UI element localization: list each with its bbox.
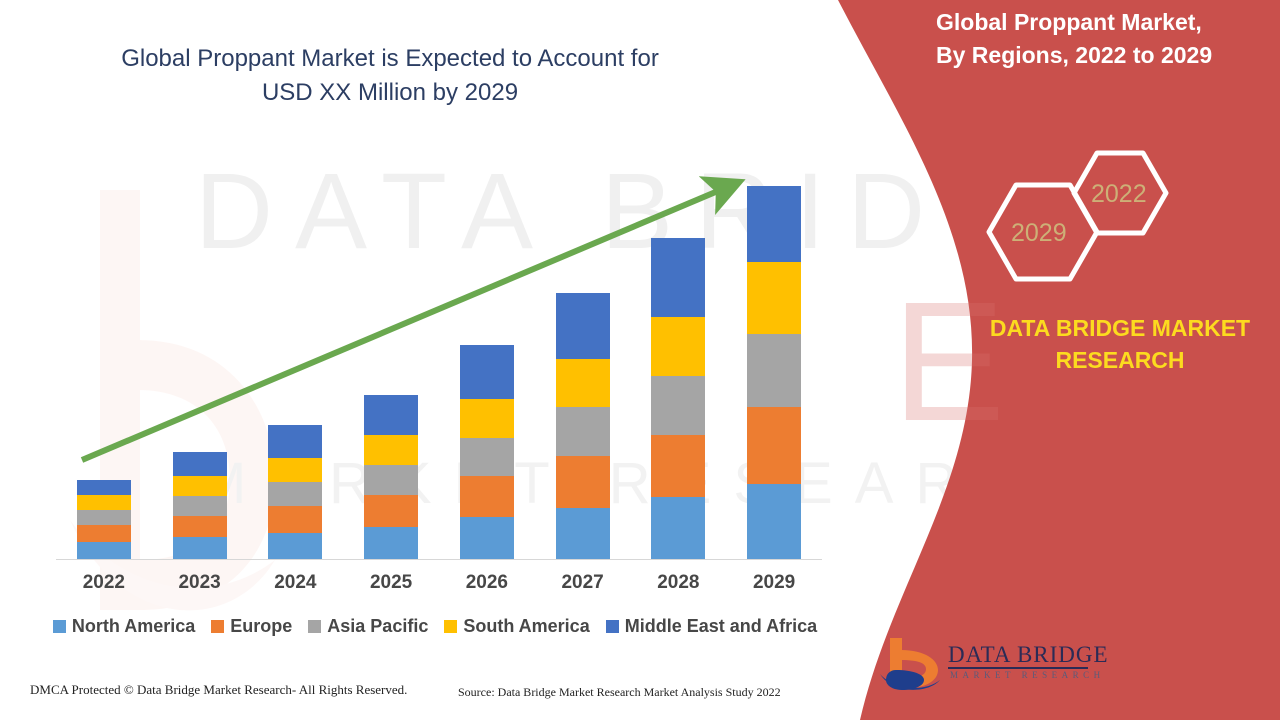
x-axis-label-2029: 2029 <box>747 572 801 594</box>
legend-item[interactable]: Middle East and Africa <box>606 616 817 637</box>
legend-item[interactable]: North America <box>53 616 195 637</box>
logo-mark-icon <box>878 636 948 696</box>
logo-wordmark: DATA BRIDGE <box>948 642 1109 668</box>
legend-item[interactable]: South America <box>444 616 589 637</box>
x-axis-label-2023: 2023 <box>173 572 227 594</box>
bar-segment <box>364 465 418 495</box>
chart-baseline-axis <box>56 559 822 560</box>
legend-swatch-icon <box>211 620 224 633</box>
x-axis-label-2028: 2028 <box>651 572 705 594</box>
bar-segment <box>173 516 227 537</box>
bar-segment <box>651 317 705 376</box>
legend-item[interactable]: Asia Pacific <box>308 616 428 637</box>
bar-segment <box>460 517 514 559</box>
bar-segment <box>77 510 131 525</box>
bar-column-2029 <box>747 150 801 559</box>
dmca-notice: DMCA Protected © Data Bridge Market Rese… <box>30 682 407 698</box>
logo-tagline: MARKET RESEARCH <box>950 670 1105 680</box>
chart-title-line1: Global Proppant Market is Expected to Ac… <box>60 42 720 76</box>
legend-swatch-icon <box>606 620 619 633</box>
chart-title: Global Proppant Market is Expected to Ac… <box>60 42 720 110</box>
bar-segment <box>460 345 514 399</box>
bar-segment <box>556 359 610 407</box>
bar-segment <box>747 186 801 262</box>
legend-label: Middle East and Africa <box>625 616 817 637</box>
bar-column-2024 <box>268 150 322 559</box>
panel-title-line1: Global Proppant Market, <box>936 6 1266 39</box>
infographic-slide: DATA BRIDGE MARKET RESEARCH Global Propp… <box>0 0 1280 720</box>
stacked-bar-chart <box>56 150 822 559</box>
bar-segment <box>651 238 705 317</box>
bar-segment <box>460 399 514 438</box>
x-axis-labels: 20222023202420252026202720282029 <box>56 572 822 594</box>
bar-segment <box>460 438 514 476</box>
bar-segment <box>77 480 131 495</box>
bar-segment <box>364 435 418 465</box>
company-logo: DATA BRIDGE MARKET RESEARCH <box>878 636 1098 696</box>
bar-segment <box>364 495 418 527</box>
legend-swatch-icon <box>444 620 457 633</box>
bar-segment <box>77 542 131 559</box>
chart-title-line2: USD XX Million by 2029 <box>60 76 720 110</box>
source-note: Source: Data Bridge Market Research Mark… <box>458 685 781 700</box>
legend-label: Asia Pacific <box>327 616 428 637</box>
bar-column-2027 <box>556 150 610 559</box>
legend-label: North America <box>72 616 195 637</box>
bar-segment <box>651 376 705 435</box>
x-axis-label-2026: 2026 <box>460 572 514 594</box>
hex-year-2022: 2022 <box>1091 180 1147 209</box>
x-axis-label-2024: 2024 <box>268 572 322 594</box>
bar-segment <box>747 334 801 407</box>
bar-segment <box>77 525 131 542</box>
bar-segment <box>364 527 418 559</box>
bar-segment <box>747 407 801 484</box>
brand-name: DATA BRIDGE MARKET RESEARCH <box>965 312 1275 376</box>
chart-legend: North AmericaEuropeAsia PacificSouth Ame… <box>40 616 830 637</box>
bar-segment <box>747 262 801 334</box>
x-axis-label-2022: 2022 <box>77 572 131 594</box>
bar-segment <box>651 497 705 559</box>
bar-column-2025 <box>364 150 418 559</box>
bar-segment <box>747 484 801 559</box>
bar-segment <box>268 425 322 458</box>
bar-segment <box>173 537 227 559</box>
legend-label: Europe <box>230 616 292 637</box>
bar-segment <box>173 476 227 496</box>
bar-segment <box>173 452 227 476</box>
bar-column-2028 <box>651 150 705 559</box>
legend-swatch-icon <box>53 620 66 633</box>
bar-segment <box>556 508 610 559</box>
bar-segment <box>268 533 322 559</box>
bar-segment <box>556 456 610 508</box>
bar-segment <box>364 395 418 435</box>
legend-label: South America <box>463 616 589 637</box>
hex-year-2029: 2029 <box>1011 219 1067 248</box>
bar-segment <box>173 496 227 516</box>
panel-title-line2: By Regions, 2022 to 2029 <box>936 39 1266 72</box>
bar-column-2022 <box>77 150 131 559</box>
brand-line1: DATA BRIDGE MARKET <box>965 312 1275 344</box>
bar-segment <box>556 407 610 456</box>
x-axis-label-2025: 2025 <box>364 572 418 594</box>
x-axis-label-2027: 2027 <box>556 572 610 594</box>
panel-title: Global Proppant Market, By Regions, 2022… <box>936 6 1266 72</box>
legend-swatch-icon <box>308 620 321 633</box>
bar-segment <box>460 476 514 517</box>
bar-segment <box>268 482 322 506</box>
bar-segment <box>556 293 610 359</box>
bar-segment <box>268 458 322 482</box>
bar-segment <box>268 506 322 533</box>
bar-column-2026 <box>460 150 514 559</box>
bar-column-2023 <box>173 150 227 559</box>
brand-line2: RESEARCH <box>965 344 1275 376</box>
bar-segment <box>77 495 131 510</box>
bar-segment <box>651 435 705 497</box>
logo-divider <box>948 667 1088 669</box>
year-hexagons: 2022 2029 <box>985 145 1195 295</box>
legend-item[interactable]: Europe <box>211 616 292 637</box>
